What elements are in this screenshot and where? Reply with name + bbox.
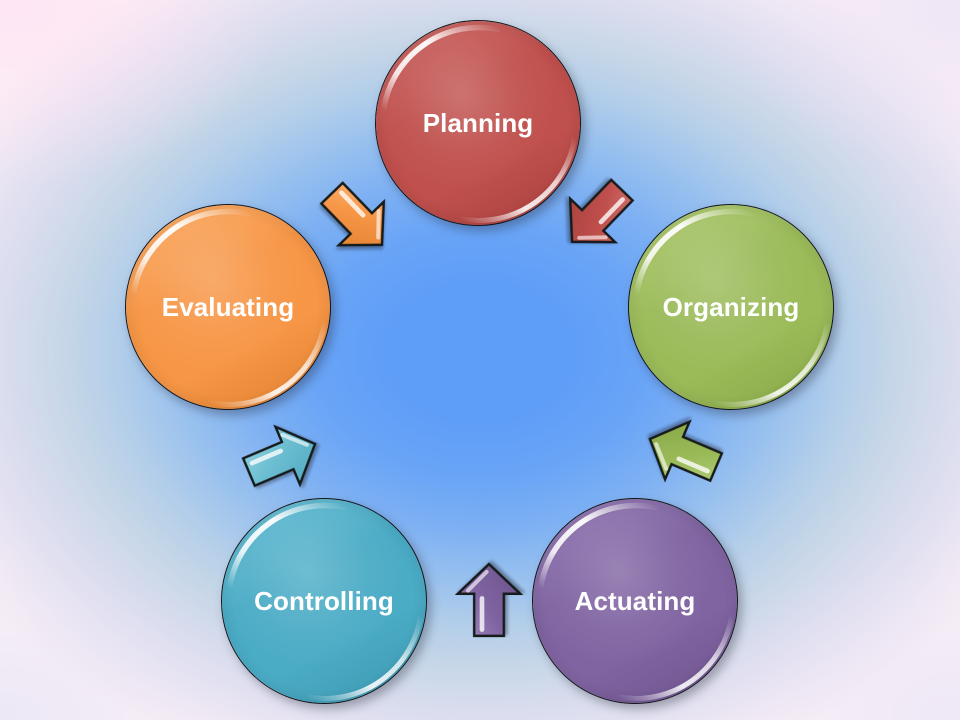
arrow-glyph <box>452 561 526 639</box>
cycle-node-controlling[interactable]: Controlling <box>221 498 427 704</box>
node-label-organizing: Organizing <box>663 294 800 320</box>
node-label-controlling: Controlling <box>254 588 394 614</box>
cycle-node-planning[interactable]: Planning <box>375 20 581 226</box>
cycle-node-organizing[interactable]: Organizing <box>628 204 834 410</box>
cycle-arrow-actuating-to-controlling <box>452 561 526 639</box>
node-label-planning: Planning <box>423 110 534 136</box>
node-label-evaluating: Evaluating <box>162 294 294 320</box>
node-label-actuating: Actuating <box>575 588 696 614</box>
cycle-node-evaluating[interactable]: Evaluating <box>125 204 331 410</box>
cycle-node-actuating[interactable]: Actuating <box>532 498 738 704</box>
diagram-canvas: PlanningOrganizingActuatingControllingEv… <box>0 0 960 720</box>
